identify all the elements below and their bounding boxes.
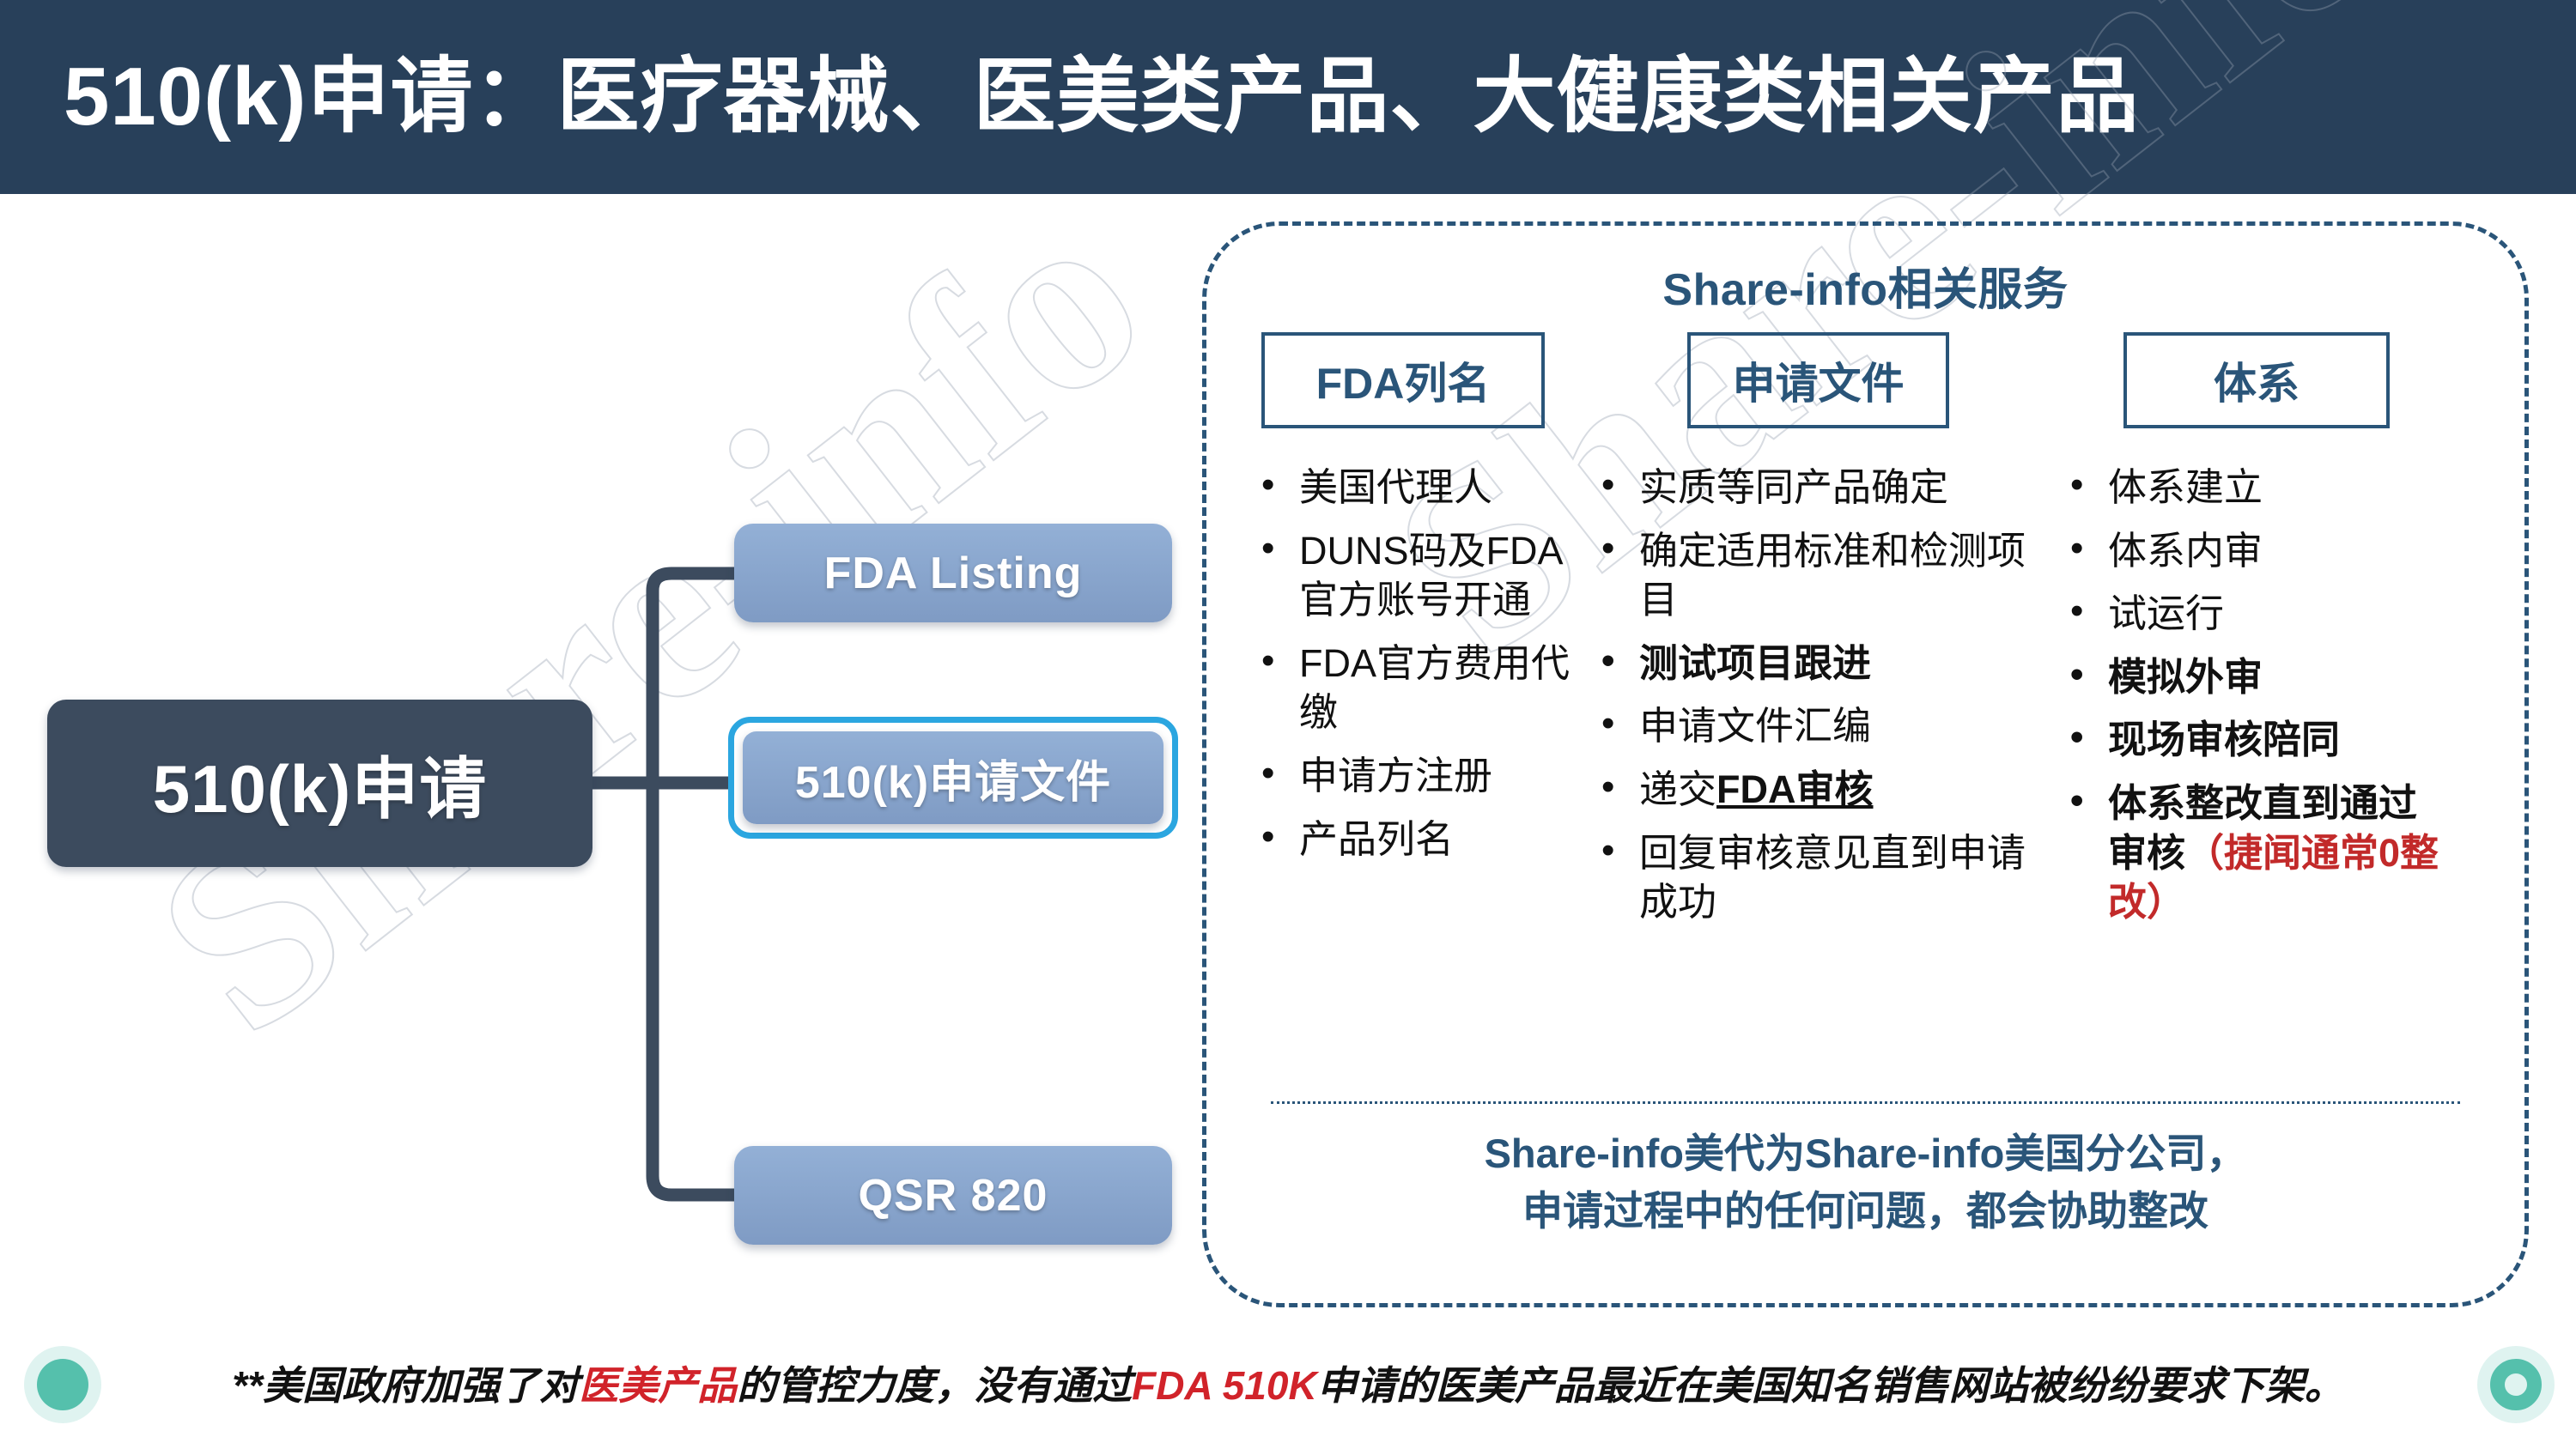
decor-circle-right-icon bbox=[2477, 1346, 2555, 1423]
submit-fda-emphasis: FDA审核 bbox=[1716, 767, 1873, 811]
bottom-note-text: **美国政府加强了对医美产品的管控力度，没有通过FDA 510K申请的医美产品最… bbox=[232, 1355, 2343, 1411]
list-item: 产品列名 bbox=[1246, 815, 1571, 864]
column-header-quality-system: 体系 bbox=[2123, 332, 2390, 428]
flow-node-qsr[interactable]: QSR 820 bbox=[734, 1146, 1172, 1245]
page-title: 510(k)申请：医疗器械、医美类产品、大健康类相关产品 bbox=[64, 56, 2140, 138]
panel-footer-line-1: Share-info美代为Share-info美国分公司， bbox=[1258, 1125, 2473, 1183]
flow-node-root[interactable]: 510(k)申请 bbox=[47, 700, 592, 867]
panel-columns: FDA列名 美国代理人 DUNS码及FDA官方账号开通 FDA官方费用代缴 申请… bbox=[1246, 332, 2495, 941]
bullet-list-quality-system: 体系建立 体系内审 试运行 模拟外审 现场审核陪同 体系整改直到通过审核（捷闻通… bbox=[2055, 463, 2441, 941]
list-item: 美国代理人 bbox=[1246, 463, 1571, 512]
column-header-fda-listing: FDA列名 bbox=[1261, 332, 1545, 428]
list-item: FDA官方费用代缴 bbox=[1246, 639, 1571, 737]
note-part-2: 的管控力度，没有通过 bbox=[737, 1363, 1132, 1408]
bullet-list-application-docs: 实质等同产品确定 确定适用标准和检测项目 测试项目跟进 申请文件汇编 递交FDA… bbox=[1586, 463, 2039, 941]
list-item: 体系建立 bbox=[2055, 463, 2441, 512]
flowchart: 510(k)申请 FDA Listing 510(k)申请文件 QSR 820 bbox=[0, 206, 1202, 1288]
list-item: 试运行 bbox=[2055, 589, 2441, 639]
column-fda-listing: FDA列名 美国代理人 DUNS码及FDA官方账号开通 FDA官方费用代缴 申请… bbox=[1246, 332, 1571, 941]
panel-footer-line-2: 申请过程中的任何问题，都会协助整改 bbox=[1258, 1183, 2473, 1240]
panel-divider bbox=[1271, 1101, 2460, 1104]
list-item: 申请文件汇编 bbox=[1586, 701, 2039, 751]
column-header-application-docs: 申请文件 bbox=[1687, 332, 1949, 428]
note-red-1: 医美产品 bbox=[579, 1363, 737, 1408]
list-item-submit-fda: 递交FDA审核 bbox=[1586, 765, 2039, 815]
list-item-system-rectify: 体系整改直到通过审核（捷闻通常0整改） bbox=[2055, 779, 2441, 927]
column-application-docs: 申请文件 实质等同产品确定 确定适用标准和检测项目 测试项目跟进 申请文件汇编 … bbox=[1586, 332, 2039, 941]
decor-circle-right-inner bbox=[2490, 1359, 2542, 1410]
list-item: DUNS码及FDA官方账号开通 bbox=[1246, 526, 1571, 625]
services-panel: Share-info相关服务 FDA列名 美国代理人 DUNS码及FDA官方账号… bbox=[1202, 221, 2529, 1307]
note-part-1: **美国政府加强了对 bbox=[232, 1363, 579, 1408]
flow-node-fda-listing[interactable]: FDA Listing bbox=[734, 524, 1172, 622]
list-item: 回复审核意见直到申请成功 bbox=[1586, 828, 2039, 927]
submit-prefix: 递交 bbox=[1639, 767, 1716, 811]
bullet-list-fda-listing: 美国代理人 DUNS码及FDA官方账号开通 FDA官方费用代缴 申请方注册 产品… bbox=[1246, 463, 1571, 877]
list-item: 申请方注册 bbox=[1246, 751, 1571, 801]
list-item: 确定适用标准和检测项目 bbox=[1586, 526, 2039, 625]
list-item: 实质等同产品确定 bbox=[1586, 463, 2039, 512]
note-red-2: FDA 510K bbox=[1132, 1363, 1317, 1408]
bottom-note: **美国政府加强了对医美产品的管控力度，没有通过FDA 510K申请的医美产品最… bbox=[0, 1332, 2576, 1434]
list-item: 模拟外审 bbox=[2055, 652, 2441, 702]
header-bar: 510(k)申请：医疗器械、医美类产品、大健康类相关产品 bbox=[0, 0, 2576, 194]
column-quality-system: 体系 体系建立 体系内审 试运行 模拟外审 现场审核陪同 体系整改直到通过审核（… bbox=[2055, 332, 2441, 941]
list-item: 现场审核陪同 bbox=[2055, 715, 2441, 765]
flow-node-510k-file[interactable]: 510(k)申请文件 bbox=[743, 731, 1163, 824]
list-item: 测试项目跟进 bbox=[1586, 639, 2039, 688]
panel-footer: Share-info美代为Share-info美国分公司， 申请过程中的任何问题… bbox=[1258, 1125, 2473, 1240]
note-part-3: 申请的医美产品最近在美国知名销售网站被纷纷要求下架。 bbox=[1317, 1363, 2344, 1408]
list-item: 体系内审 bbox=[2055, 526, 2441, 576]
panel-title: Share-info相关服务 bbox=[1206, 253, 2524, 318]
